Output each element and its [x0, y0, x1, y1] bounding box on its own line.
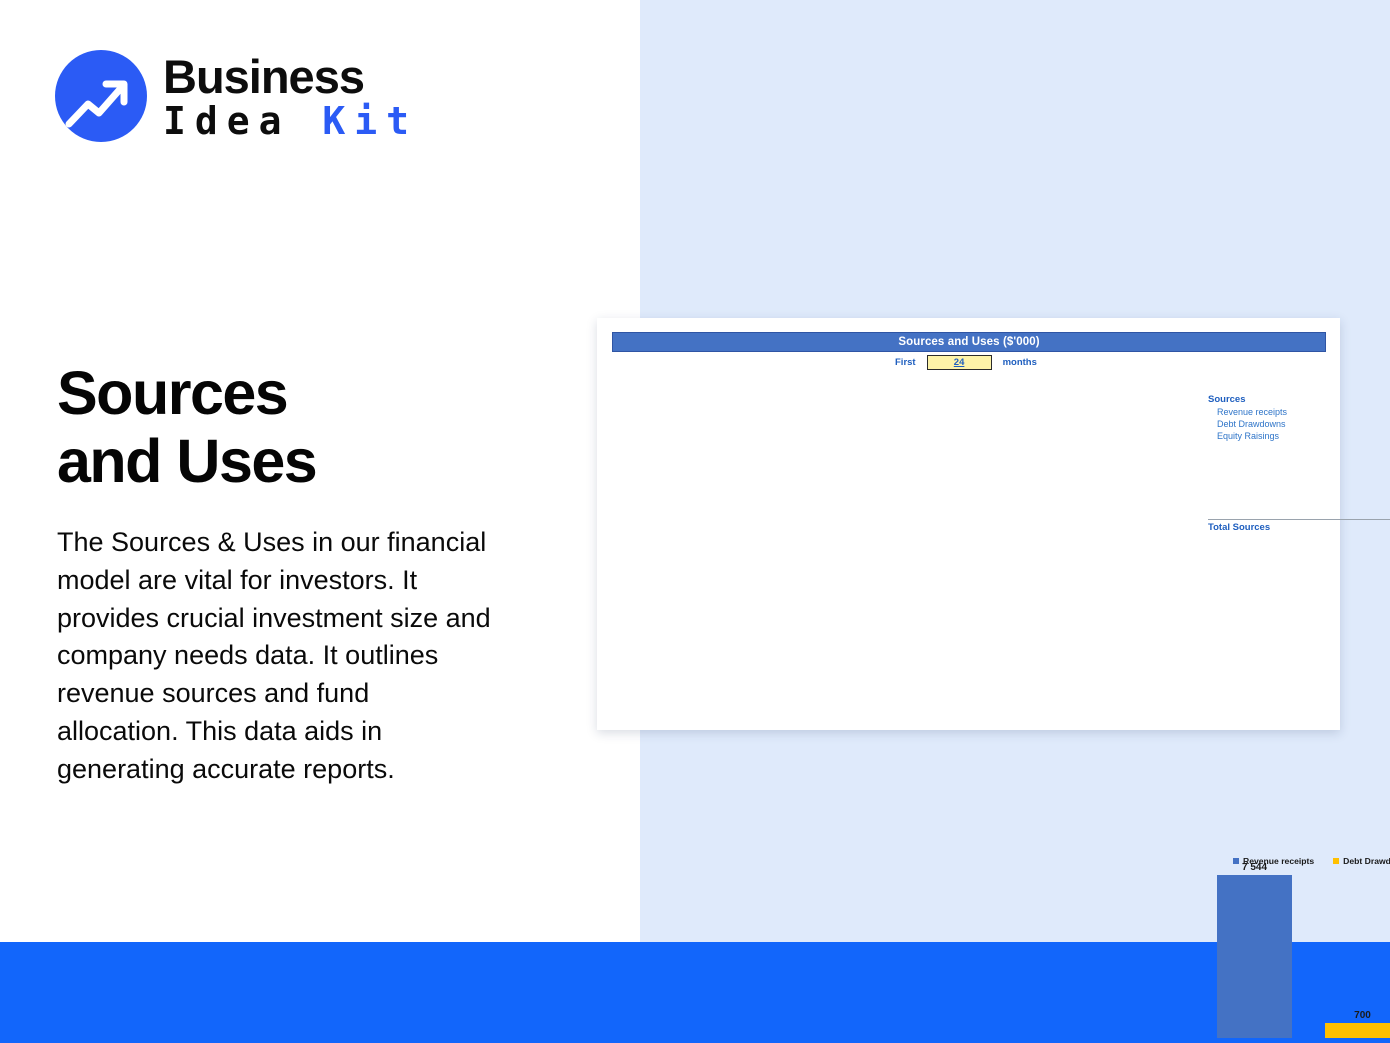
sources-row-name: Debt Drawdowns — [1208, 418, 1390, 430]
months-value: 24 — [954, 357, 965, 368]
legend-swatch-icon — [1333, 858, 1339, 864]
spreadsheet-screenshot-card: Sources and Uses ($'000) First 24 months… — [597, 318, 1340, 730]
logo-wordmark-line2: Idea Kit — [163, 102, 418, 140]
chart-bar-label: 7 544 — [1242, 862, 1267, 873]
sheet-title-bar: Sources and Uses ($'000) — [612, 332, 1326, 352]
chart-bar: 7 544 — [1217, 875, 1292, 1038]
period-suffix-label: months — [1003, 357, 1037, 368]
bottom-brand-band — [0, 942, 1390, 1043]
logo-wordmark-line1: Business — [163, 53, 418, 100]
legend-label: Debt Drawdowns — [1343, 856, 1390, 866]
sources-bar-chart: 7 544700500 — [1217, 875, 1390, 1038]
period-prefix-label: First — [895, 357, 916, 368]
legend-item: Debt Drawdowns — [1333, 856, 1390, 866]
table-row: Equity Raisings500,05,7% — [1208, 430, 1390, 442]
sources-row-name: Equity Raisings — [1208, 430, 1390, 442]
months-input-cell[interactable]: 24 — [927, 355, 992, 370]
total-sources-row: Total Sources 8 744,1 100,0% — [1208, 519, 1390, 533]
page-description: The Sources & Uses in our financial mode… — [57, 524, 497, 789]
sheet-title: Sources and Uses ($'000) — [898, 336, 1039, 348]
logo-kit-text: Kit — [322, 99, 418, 143]
chart-bar-label: 700 — [1354, 1010, 1371, 1021]
legend-swatch-icon — [1233, 858, 1239, 864]
brand-logo: Business Idea Kit — [55, 50, 418, 142]
table-row: Revenue receipts7 544,186,3% — [1208, 406, 1390, 418]
logo-idea-text: Idea — [163, 99, 322, 143]
page-title: Sources and Uses — [57, 359, 617, 496]
table-row: Debt Drawdowns700,08,0% — [1208, 418, 1390, 430]
chart-bar-slot: 700 — [1325, 875, 1390, 1038]
sources-row-name: Revenue receipts — [1208, 406, 1390, 418]
period-selector-row: First 24 months — [612, 355, 1324, 370]
total-sources-label: Total Sources — [1208, 522, 1390, 533]
growth-arrow-icon — [55, 50, 147, 142]
chart-bar: 700 — [1325, 1023, 1390, 1038]
chart-bar-slot: 7 544 — [1217, 875, 1292, 1038]
sources-table: Sources Revenue receipts7 544,186,3%Debt… — [1208, 394, 1390, 442]
sources-header: Sources — [1208, 394, 1390, 405]
